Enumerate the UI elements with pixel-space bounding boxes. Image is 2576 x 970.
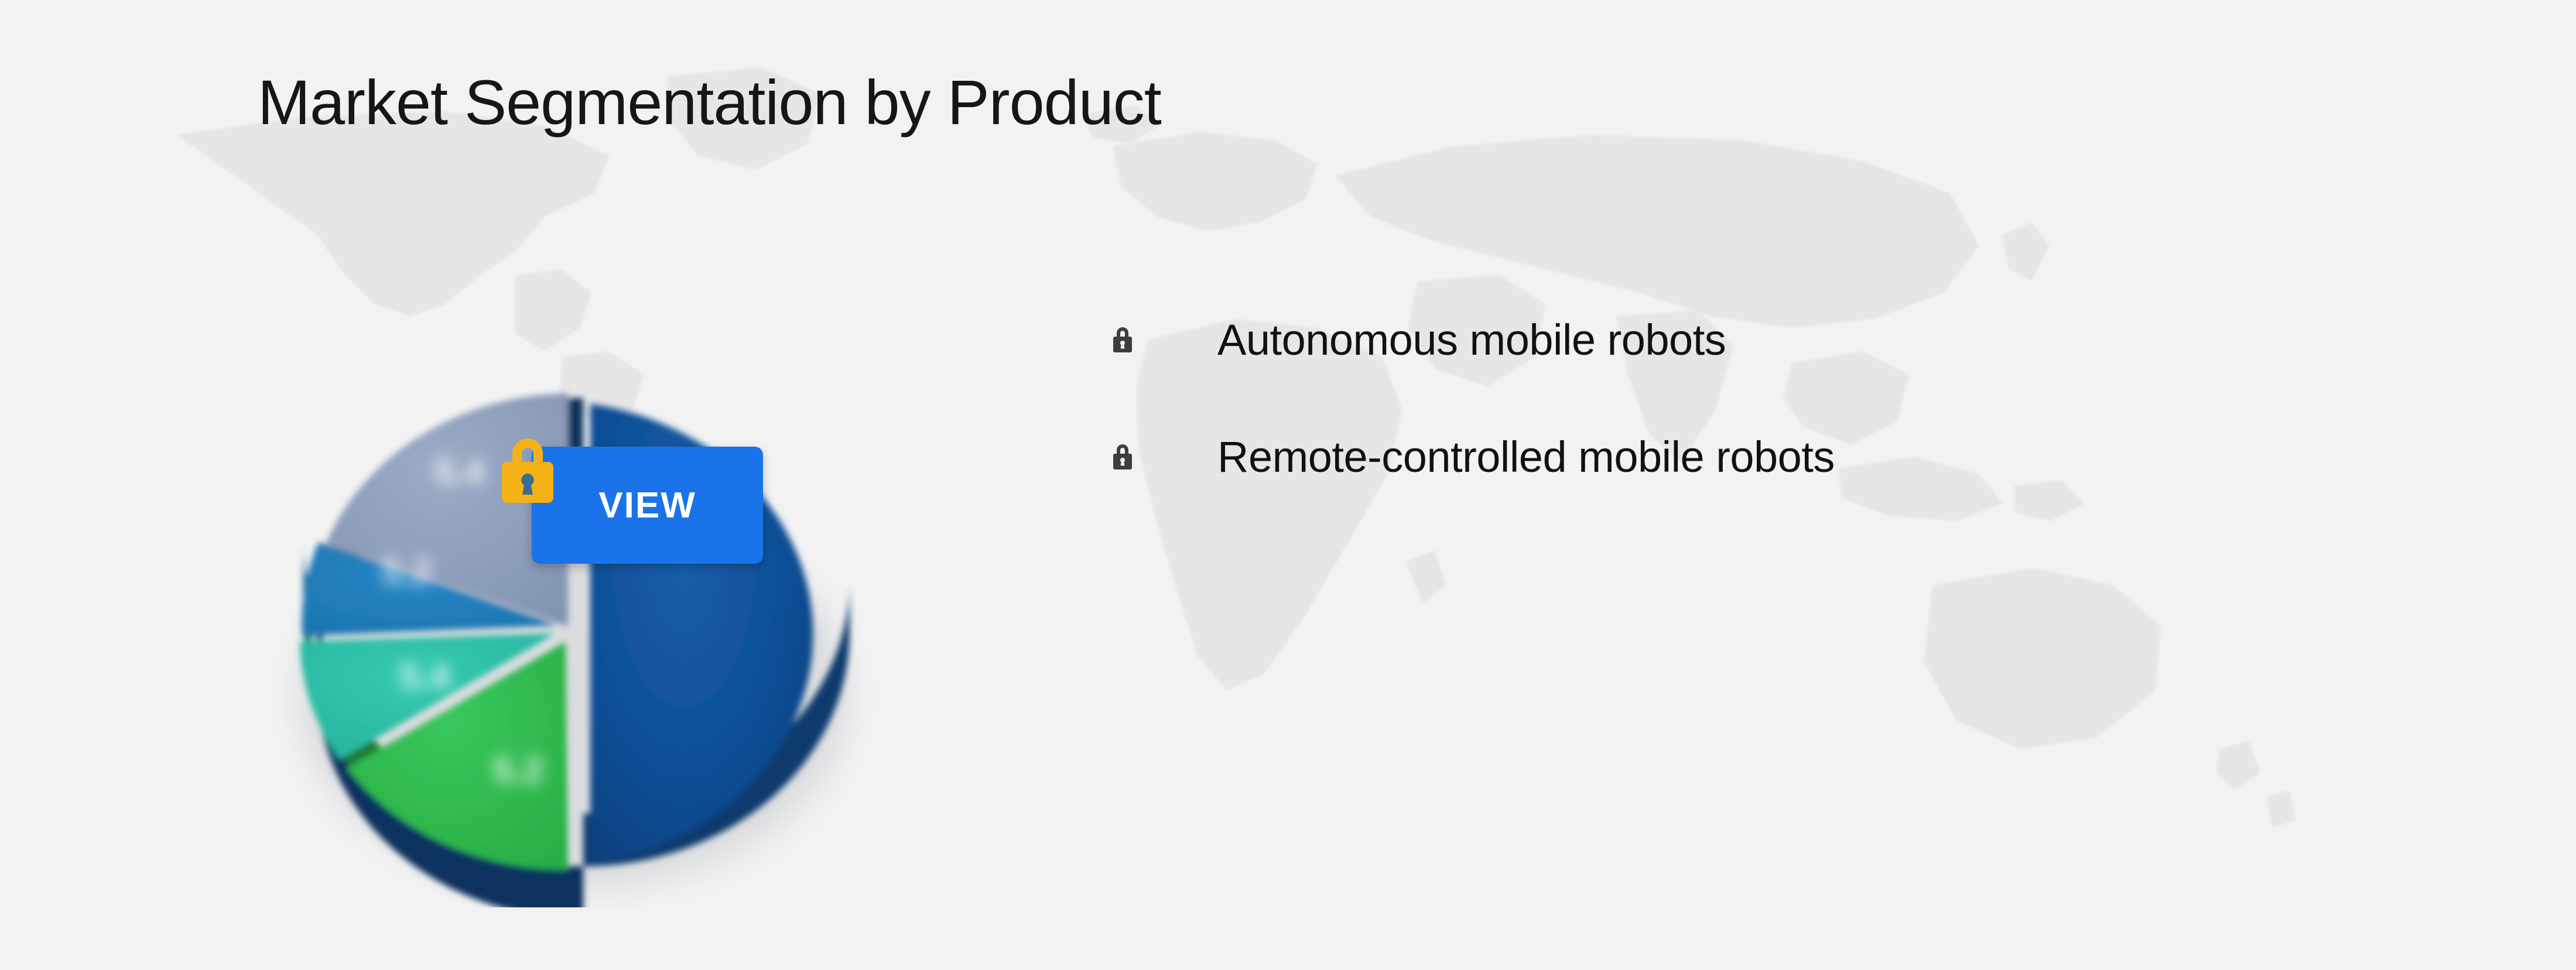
legend: Autonomous mobile robots Remote-controll…: [1110, 281, 2398, 515]
lock-icon: [1110, 441, 1135, 472]
lock-icon: [1110, 324, 1135, 355]
pie-label-3: 5.4: [399, 656, 450, 697]
pie-label-2: 5.2: [382, 551, 432, 591]
pie-label-4: 5.2: [493, 750, 543, 790]
view-button-label: VIEW: [598, 485, 696, 526]
pie-label-1: 5.4: [435, 451, 485, 492]
view-button[interactable]: VIEW: [532, 447, 763, 564]
legend-item-label: Autonomous mobile robots: [1217, 315, 1726, 365]
slide-canvas: Market Segmentation by Product: [0, 0, 2576, 970]
page-title: Market Segmentation by Product: [258, 66, 1161, 139]
locked-view-overlay: VIEW: [495, 430, 747, 568]
lock-icon: [495, 430, 560, 505]
legend-item-autonomous-mobile-robots[interactable]: Autonomous mobile robots: [1110, 281, 2398, 398]
legend-item-label: Remote-controlled mobile robots: [1217, 432, 1835, 482]
legend-item-remote-controlled-mobile-robots[interactable]: Remote-controlled mobile robots: [1110, 398, 2398, 515]
